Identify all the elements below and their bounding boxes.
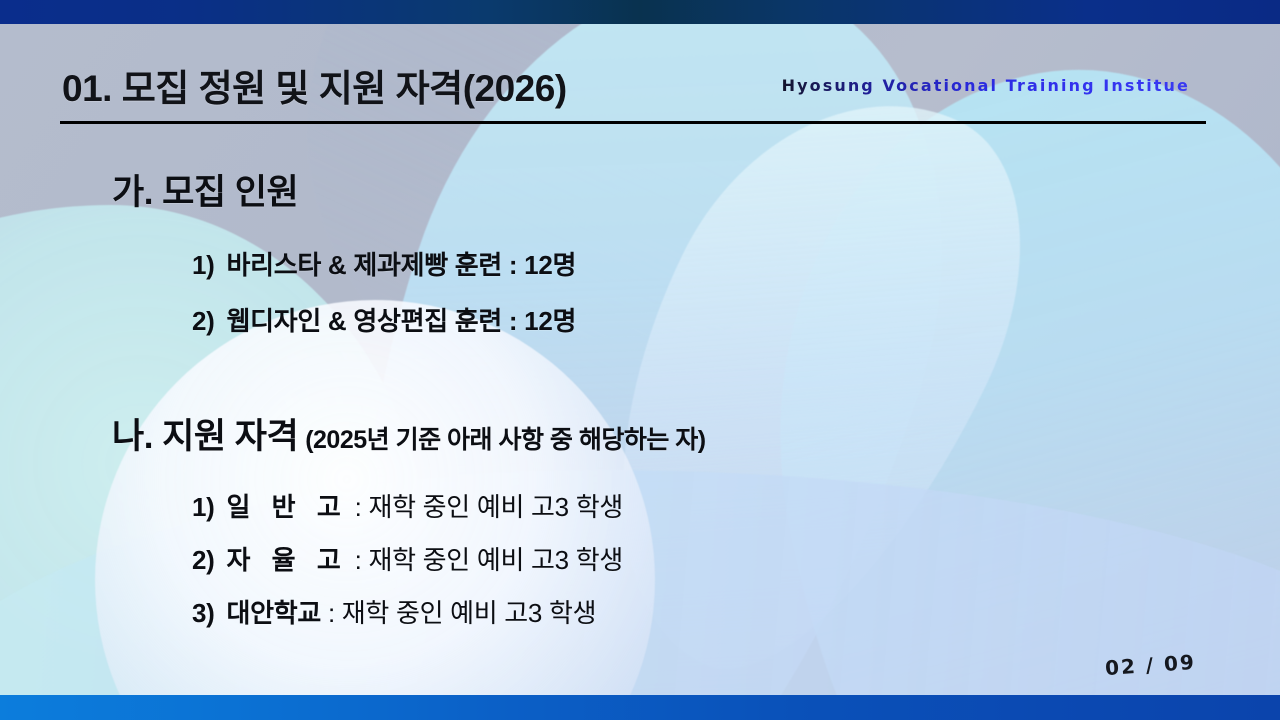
list-item-label: 자 율 고 — [227, 545, 348, 575]
list-item: 1)바리스타 & 제과제빵 훈련 : 12명 — [192, 245, 576, 282]
list-item-label: 일 반 고 — [227, 492, 348, 522]
list-item-number: 1) — [192, 250, 215, 280]
list-item-label: 바리스타 & 제과제빵 훈련 : 12명 — [227, 250, 577, 280]
list-item-number: 2) — [192, 306, 215, 336]
list-item: 1)일 반 고 : 재학 중인 예비 고3 학생 — [192, 487, 623, 524]
list-item-number: 2) — [192, 545, 215, 575]
page-title: 01. 모집 정원 및 지원 자격(2026) — [62, 58, 567, 112]
list-item-rest: : 재학 중인 예비 고3 학생 — [348, 492, 623, 522]
section-heading-eligibility: 나. 지원 자격(2025년 기준 아래 사항 중 해당하는 자) — [112, 408, 706, 459]
section-heading-note: (2025년 기준 아래 사항 중 해당하는 자) — [305, 426, 705, 454]
list-item-label: 웹디자인 & 영상편집 훈련 : 12명 — [227, 306, 577, 336]
section-heading-text: 가. 모집 인원 — [112, 173, 298, 212]
presentation-slide: 01. 모집 정원 및 지원 자격(2026) Hyosung Vocation… — [0, 0, 1280, 720]
page-number: 02 / 09 — [1104, 650, 1196, 680]
list-item: 3)대안학교 : 재학 중인 예비 고3 학생 — [192, 593, 596, 630]
slide-header: 01. 모집 정원 및 지원 자격(2026) Hyosung Vocation… — [60, 58, 1206, 128]
section-heading-text: 나. 지원 자격 — [112, 417, 298, 456]
list-item: 2)웹디자인 & 영상편집 훈련 : 12명 — [192, 301, 576, 338]
title-divider — [60, 121, 1206, 124]
brand-label: Hyosung Vocational Training Institue — [782, 76, 1190, 95]
list-item-rest: : 재학 중인 예비 고3 학생 — [348, 545, 623, 575]
list-item-label: 대안학교 — [227, 598, 321, 628]
list-item-number: 1) — [192, 492, 215, 522]
top-accent-bar — [0, 0, 1280, 24]
slide-body: 가. 모집 인원 1)바리스타 & 제과제빵 훈련 : 12명 2)웹디자인 &… — [0, 150, 1280, 650]
section-heading-recruitment-count: 가. 모집 인원 — [112, 164, 305, 215]
bottom-accent-bar — [0, 695, 1280, 720]
list-item-rest: : 재학 중인 예비 고3 학생 — [321, 598, 596, 628]
list-item-number: 3) — [192, 598, 215, 628]
list-item: 2)자 율 고 : 재학 중인 예비 고3 학생 — [192, 540, 623, 577]
